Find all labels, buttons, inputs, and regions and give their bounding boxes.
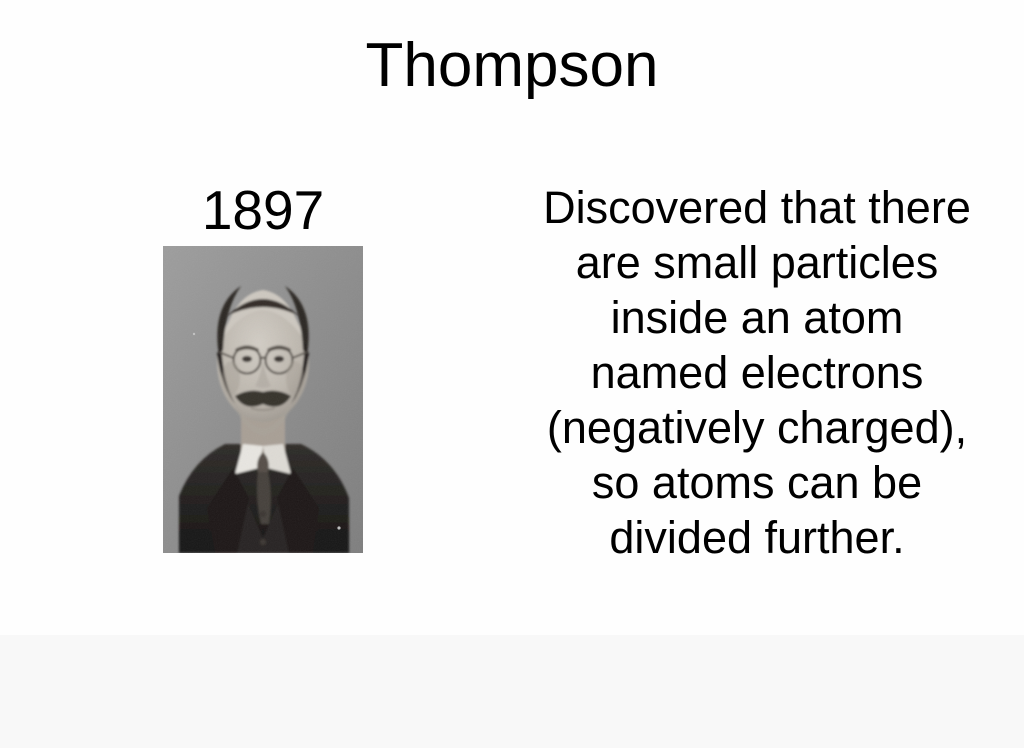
portrait-photo xyxy=(163,246,363,553)
body-line: so atoms can be xyxy=(512,455,1002,510)
body-line: inside an atom xyxy=(512,290,1002,345)
body-text: Discovered that there are small particle… xyxy=(512,180,1002,565)
year-label: 1897 xyxy=(163,181,363,239)
body-line: Discovered that there xyxy=(512,180,1002,235)
portrait-illustration xyxy=(163,246,363,553)
slide: Thompson 1897 xyxy=(0,0,1024,748)
body-line: divided further. xyxy=(512,510,1002,565)
background-band-lower xyxy=(0,635,1024,748)
body-line: named electrons xyxy=(512,345,1002,400)
page-title: Thompson xyxy=(0,30,1024,102)
body-line: (negatively charged), xyxy=(512,400,1002,455)
body-line: are small particles xyxy=(512,235,1002,290)
